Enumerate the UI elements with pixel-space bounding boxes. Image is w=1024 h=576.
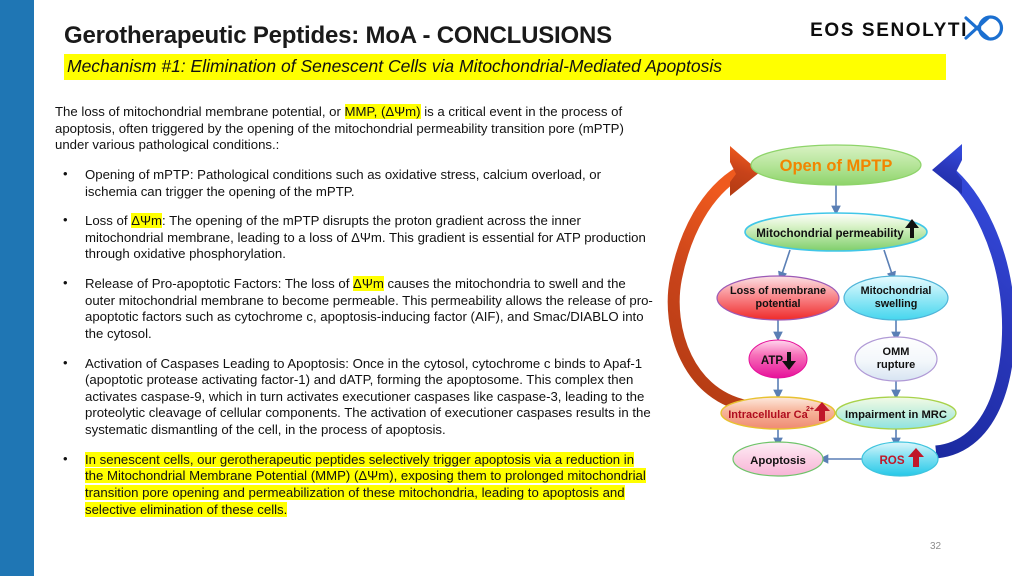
- node-intracellular-calcium: Intracellular Ca 2+: [721, 397, 835, 429]
- bullet-pre: Release of Pro-apoptotic Factors: The lo…: [85, 276, 353, 291]
- list-item: Activation of Caspases Leading to Apopto…: [55, 356, 655, 439]
- node-label-line1: OMM: [883, 346, 910, 358]
- node-label-line1: Mitochondrial: [861, 285, 932, 297]
- list-item: Release of Pro-apoptotic Factors: The lo…: [55, 276, 655, 343]
- node-label: Intracellular Ca: [728, 409, 808, 421]
- lead-highlight: MMP, (ΔΨm): [345, 104, 421, 119]
- bullet-highlight: ΔΨm: [353, 276, 384, 291]
- conclusion-text: In senescent cells, our gerotherapeutic …: [85, 452, 646, 517]
- lead-text-part1: The loss of mitochondrial membrane poten…: [55, 104, 345, 119]
- node-label: Open of MPTP: [780, 157, 893, 175]
- node-ros: ROS: [862, 442, 938, 476]
- node-impairment-in-mrc: Impairment in MRC: [836, 397, 956, 429]
- node-open-of-mptp: Open of MPTP: [751, 145, 921, 185]
- node-apoptosis: Apoptosis: [733, 442, 823, 476]
- intracellular-calcium-to-mptp-feedback-arrow: [674, 146, 760, 407]
- list-item: Loss of ΔΨm: The opening of the mPTP dis…: [55, 213, 655, 263]
- node-loss-of-membrane-potential: Loss of membrane potential: [717, 276, 839, 320]
- node-label: Impairment in MRC: [845, 409, 947, 421]
- list-item-conclusion: In senescent cells, our gerotherapeutic …: [55, 452, 655, 519]
- left-accent-bar: [0, 0, 34, 576]
- bullet-highlight: ΔΨm: [131, 213, 162, 228]
- list-item: Opening of mPTP: Pathological conditions…: [55, 167, 655, 200]
- node-omm-rupture: OMM rupture: [855, 337, 937, 381]
- page-title: Gerotherapeutic Peptides: MoA - CONCLUSI…: [64, 22, 612, 50]
- body-text-column: The loss of mitochondrial membrane poten…: [55, 104, 655, 531]
- node-label: Mitochondrial permeability: [756, 227, 904, 240]
- node-label: ATP: [761, 355, 783, 367]
- bullet-pre: Opening of mPTP: Pathological conditions…: [85, 167, 601, 199]
- lead-paragraph: The loss of mitochondrial membrane poten…: [55, 104, 655, 154]
- node-label-line2: swelling: [875, 298, 918, 310]
- node-label-line2: potential: [756, 298, 801, 310]
- page-number: 32: [930, 541, 941, 552]
- node-atp: ATP: [749, 340, 807, 378]
- bullet-list: Opening of mPTP: Pathological conditions…: [55, 167, 655, 518]
- bullet-post: : The opening of the mPTP disrupts the p…: [85, 213, 646, 261]
- infinity-x-mark: [962, 15, 1004, 46]
- node-label-superscript: 2+: [806, 406, 814, 413]
- node-label: ROS: [879, 454, 904, 467]
- node-label: Apoptosis: [750, 455, 806, 467]
- node-mitochondrial-permeability: Mitochondrial permeability: [745, 213, 927, 251]
- mptp-cascade-diagram: Open of MPTP Mitochondrial permeability …: [660, 140, 1012, 480]
- logo-wordmark: EOS SENOLYTI: [810, 21, 968, 40]
- bullet-pre: Loss of: [85, 213, 131, 228]
- node-mitochondrial-swelling: Mitochondrial swelling: [844, 276, 948, 320]
- node-label-line2: rupture: [877, 359, 916, 371]
- page-subtitle: Mechanism #1: Elimination of Senescent C…: [64, 54, 946, 80]
- bullet-pre: Activation of Caspases Leading to Apopto…: [85, 356, 651, 438]
- slide-canvas: Gerotherapeutic Peptides: MoA - CONCLUSI…: [0, 0, 1024, 576]
- node-label-line1: Loss of membrane: [730, 285, 826, 297]
- eos-senolytix-logo: EOS SENOLYTI: [810, 16, 1004, 44]
